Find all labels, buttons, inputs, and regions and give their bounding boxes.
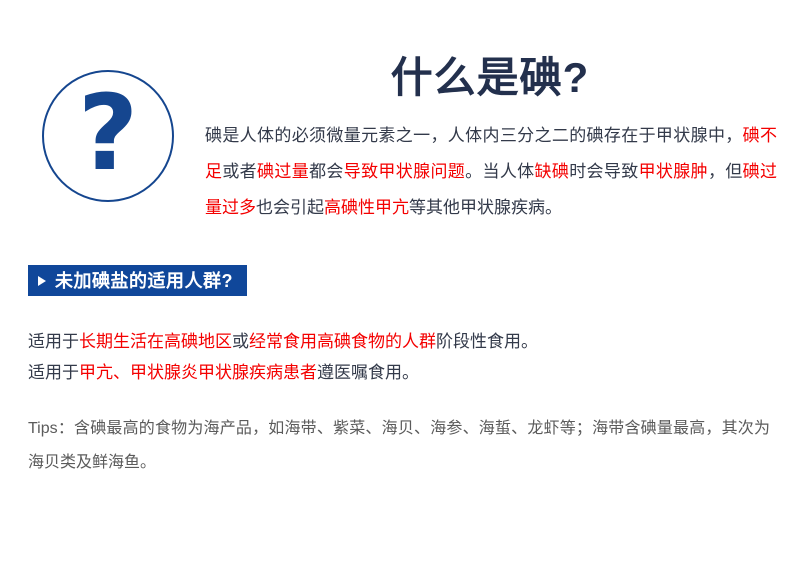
section-banner-label: 未加碘盐的适用人群? <box>55 272 233 290</box>
body-text: 阶段性食用。 <box>436 332 538 351</box>
body-text: 。当人体 <box>465 162 534 181</box>
iodine-info-page: ? 什么是碘? 碘是人体的必须微量元素之一，人体内三分之二的碘存在于甲状腺中，碘… <box>0 0 790 573</box>
body-text: 等其他甲状腺疾病。 <box>409 198 562 217</box>
body-text: ，但 <box>708 162 743 181</box>
play-triangle-icon <box>38 276 46 286</box>
highlighted-text: 高碘性甲亢 <box>324 198 409 217</box>
highlighted-text: 甲状腺肿 <box>639 162 708 181</box>
body-text: 都会 <box>309 162 344 181</box>
hero-section: ? 什么是碘? 碘是人体的必须微量元素之一，人体内三分之二的碘存在于甲状腺中，碘… <box>0 0 790 240</box>
body-text: 或者 <box>222 162 257 181</box>
body-text: 时会导致 <box>569 162 638 181</box>
body-text: 或 <box>232 332 249 351</box>
hero-paragraph: 碘是人体的必须微量元素之一，人体内三分之二的碘存在于甲状腺中，碘不足或者碘过量都… <box>205 118 777 226</box>
question-mark-icon: ? <box>42 70 174 202</box>
section-banner: 未加碘盐的适用人群? <box>28 265 247 296</box>
list-item: 适用于长期生活在高碘地区或经常食用高碘食物的人群阶段性食用。 <box>28 326 768 357</box>
highlighted-text: 导致甲状腺问题 <box>344 162 465 181</box>
highlighted-text: 碘过量 <box>257 162 309 181</box>
body-text: 适用于 <box>28 332 79 351</box>
highlighted-text: 经常食用高碘食物的人群 <box>249 332 436 351</box>
highlighted-text: 长期生活在高碘地区 <box>79 332 232 351</box>
body-text: 适用于 <box>28 363 79 382</box>
question-mark-glyph: ? <box>78 83 138 183</box>
highlighted-text: 缺碘 <box>535 162 570 181</box>
page-title: 什么是碘? <box>200 52 780 104</box>
list-item: 适用于甲亢、甲状腺炎甲状腺疾病患者遵医嘱食用。 <box>28 357 768 388</box>
body-text: 遵医嘱食用。 <box>317 363 419 382</box>
tips-text: Tips：含碘最高的食物为海产品，如海带、紫菜、海贝、海参、海蜇、龙虾等；海带含… <box>28 412 770 480</box>
body-text: 碘是人体的必须微量元素之一，人体内三分之二的碘存在于甲状腺中， <box>205 126 743 145</box>
applicable-groups-list: 适用于长期生活在高碘地区或经常食用高碘食物的人群阶段性食用。 适用于甲亢、甲状腺… <box>28 326 768 388</box>
highlighted-text: 甲亢、甲状腺炎甲状腺疾病患者 <box>79 363 317 382</box>
body-text: 也会引起 <box>256 198 324 217</box>
